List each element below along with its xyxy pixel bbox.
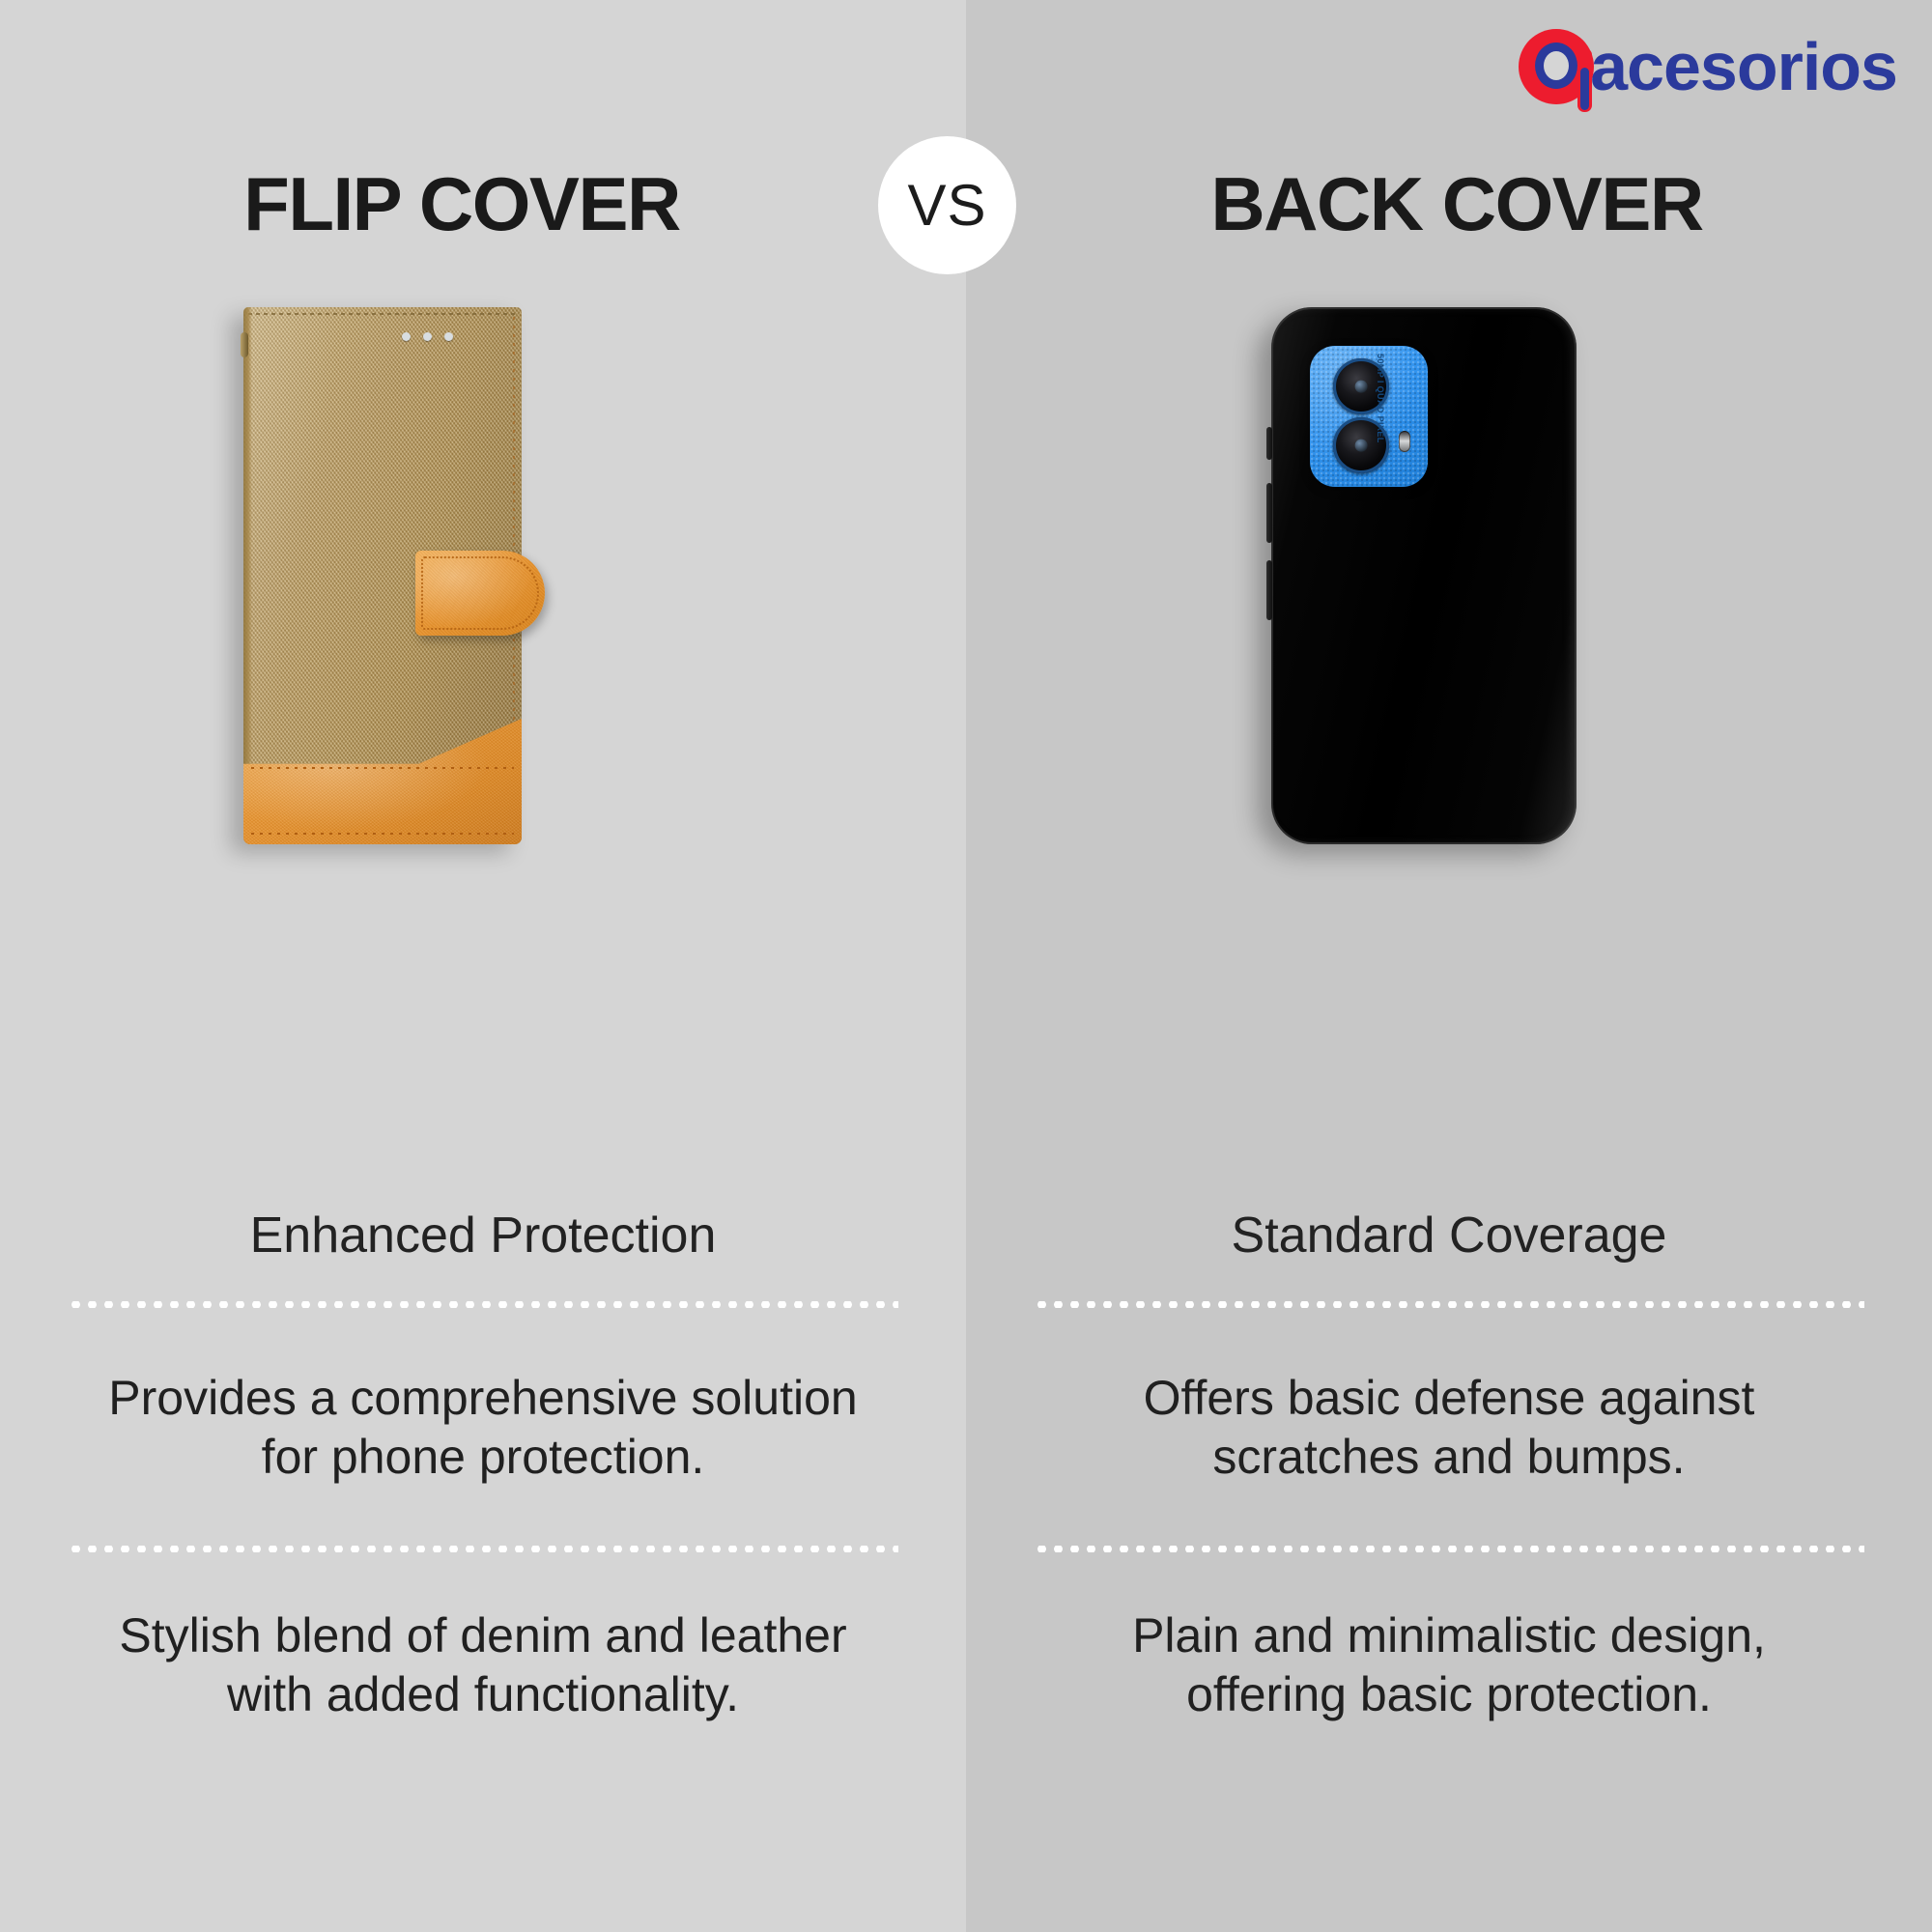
right-feature-body-1: Offers basic defense against scratches a… xyxy=(1067,1369,1831,1487)
camera-module: 50MP I QUAD PIXEL xyxy=(1310,346,1428,487)
camera-spec-label: 50MP I QUAD PIXEL xyxy=(1376,354,1385,419)
right-heading: BACK COVER xyxy=(974,160,1932,248)
top-stitching xyxy=(248,313,517,315)
brand-name: acesorios xyxy=(1590,33,1897,100)
left-feature-body-1: Provides a comprehensive solution for ph… xyxy=(101,1369,865,1487)
left-feature-title: Enhanced Protection xyxy=(68,1206,898,1265)
back-cover-product-image: 50MP I QUAD PIXEL xyxy=(1271,307,1577,844)
brand-logo: acesorios xyxy=(1519,25,1897,108)
hinge-clip-icon xyxy=(241,332,248,357)
left-feature-body-2: Stylish blend of denim and leather with … xyxy=(101,1606,865,1724)
right-feature-body-2: Plain and minimalistic design, offering … xyxy=(1067,1606,1831,1724)
brand-a-mark-icon xyxy=(1519,29,1594,104)
left-divider-1 xyxy=(68,1301,898,1308)
side-button-3 xyxy=(1266,560,1272,620)
vs-badge: VS xyxy=(878,136,1016,274)
flip-cover-product-image xyxy=(243,307,522,844)
comparison-infographic: acesorios FLIP COVER BACK COVER VS xyxy=(0,0,1932,1932)
magnetic-closure-tab xyxy=(415,551,545,636)
spine-hinge xyxy=(243,307,252,844)
right-divider-2 xyxy=(1034,1546,1864,1552)
left-heading: FLIP COVER xyxy=(0,160,945,248)
sensor-dots xyxy=(402,332,453,341)
right-feature-title: Standard Coverage xyxy=(1034,1206,1864,1265)
side-button-1 xyxy=(1266,427,1272,460)
camera-flash-icon xyxy=(1399,431,1410,452)
left-divider-2 xyxy=(68,1546,898,1552)
right-divider-1 xyxy=(1034,1301,1864,1308)
side-button-2 xyxy=(1266,483,1272,543)
